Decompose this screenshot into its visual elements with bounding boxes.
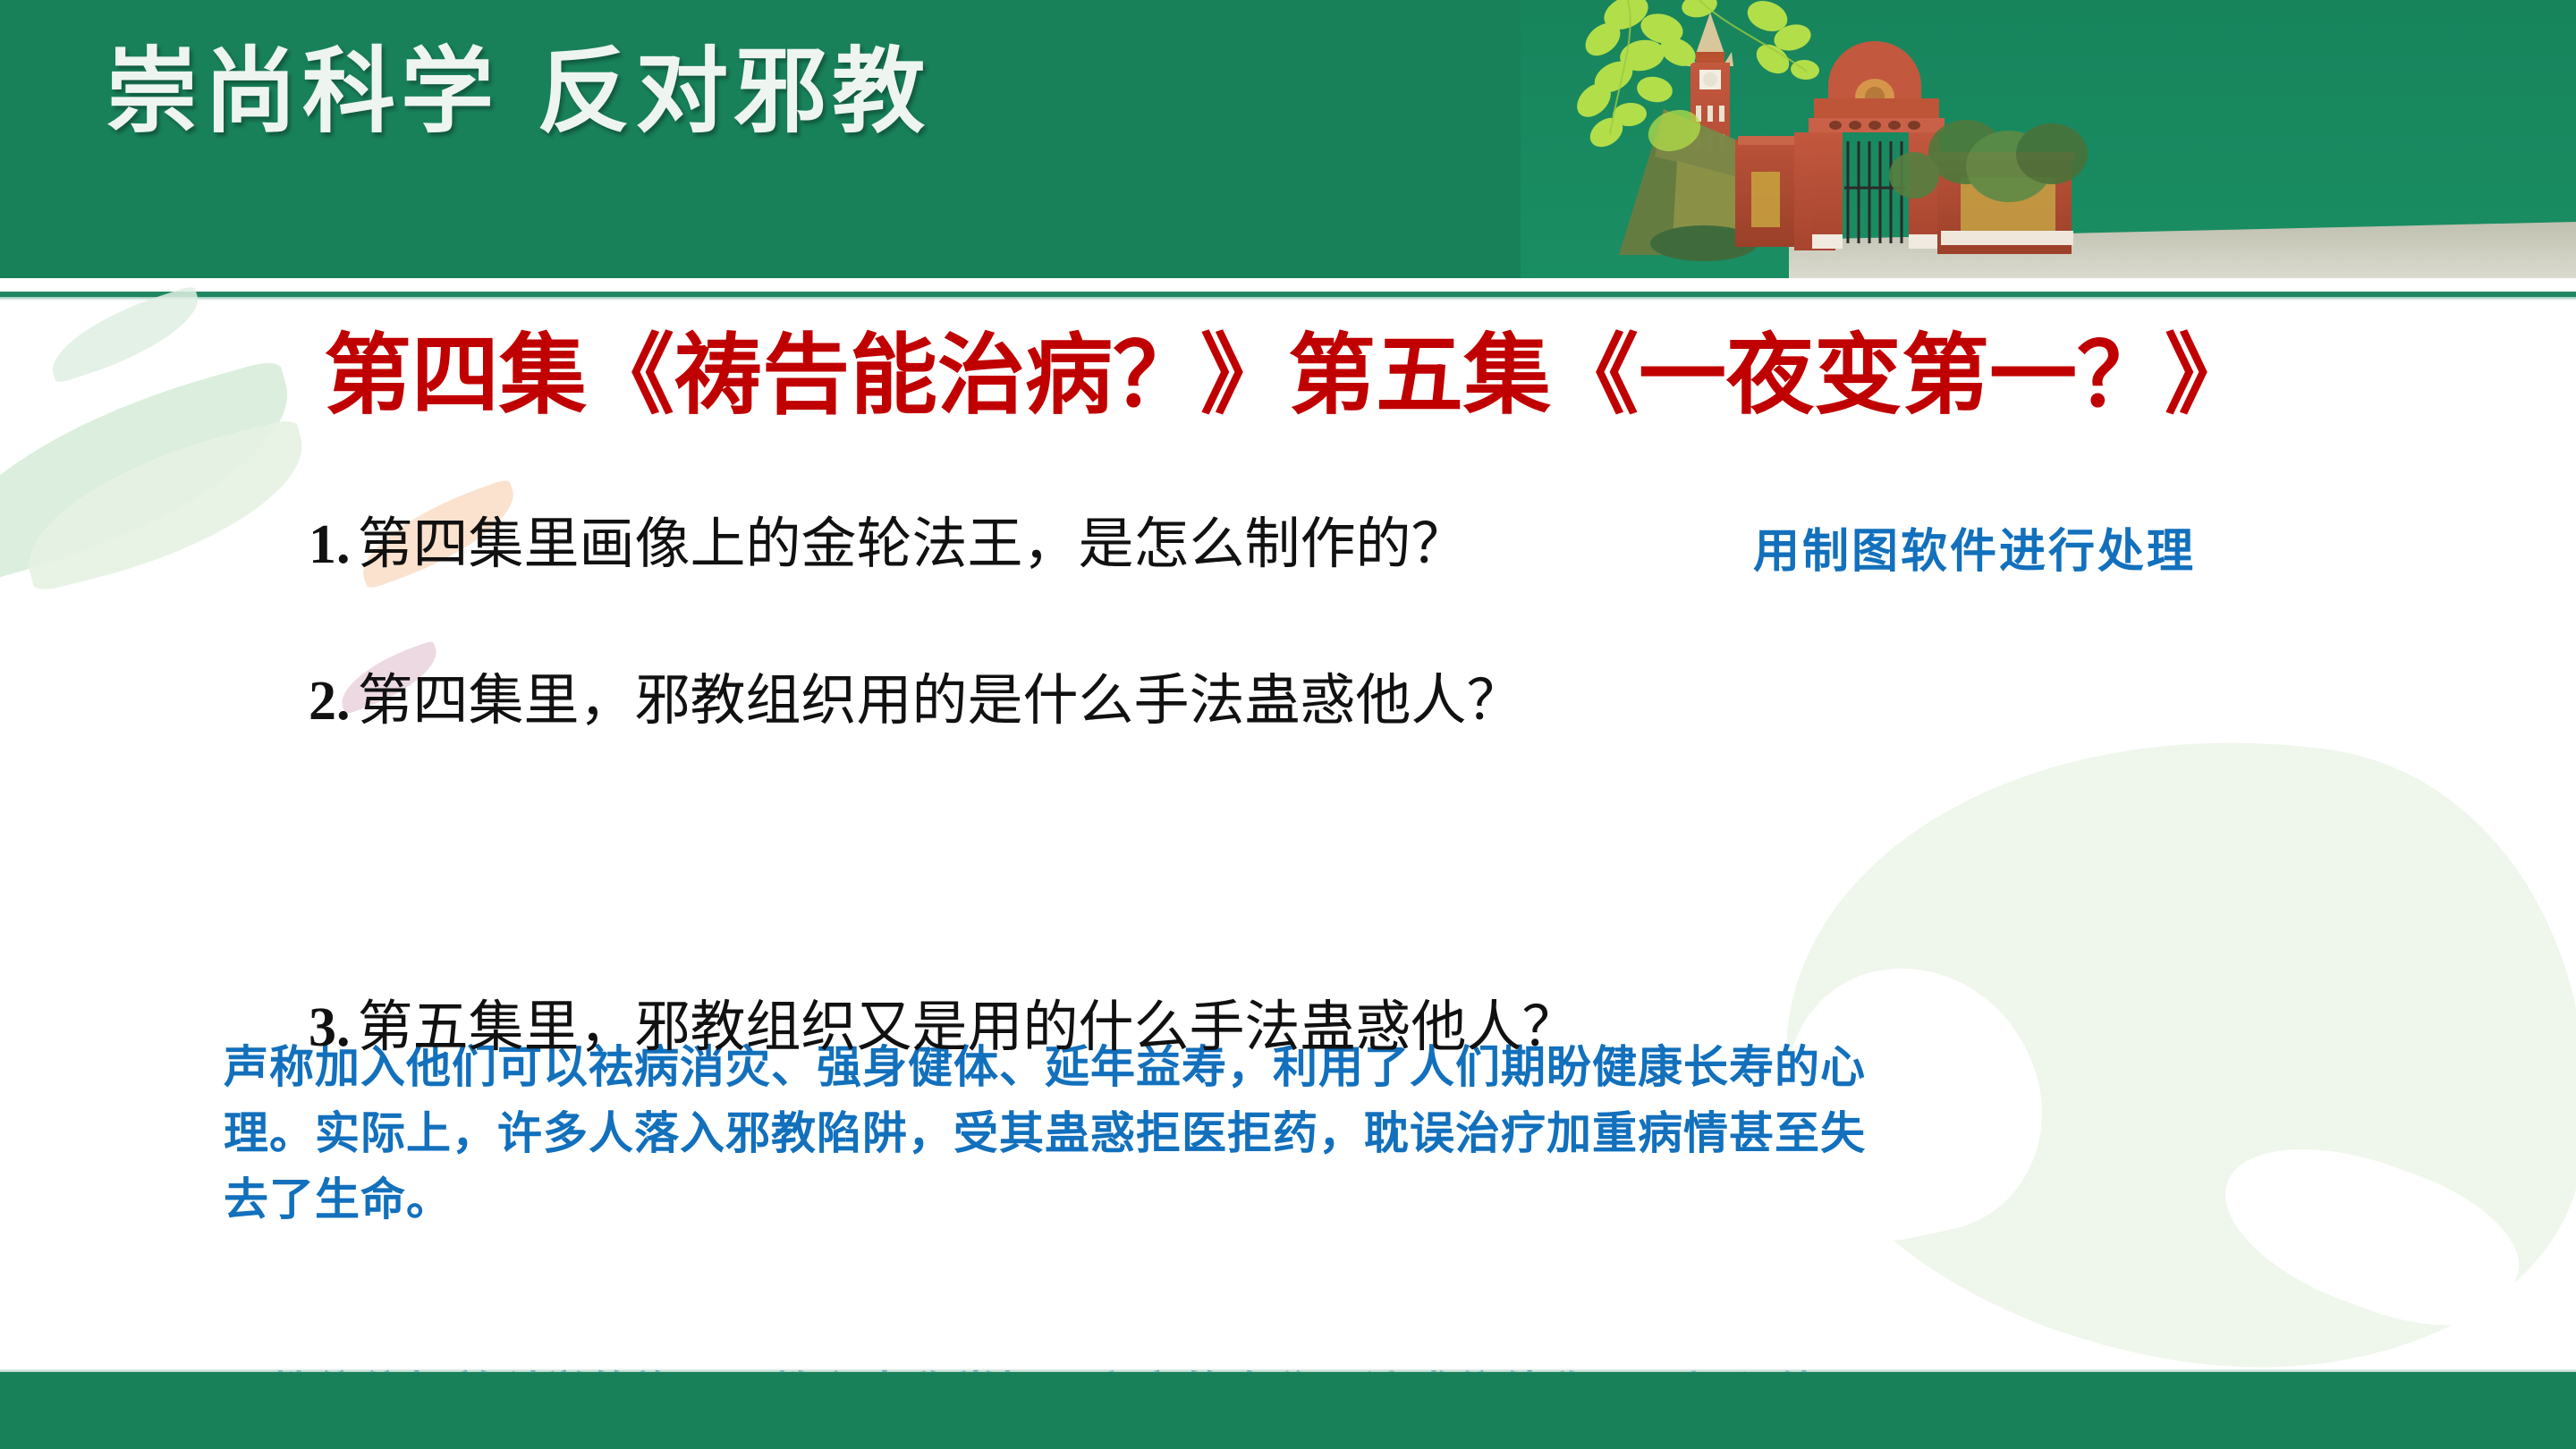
banner-title: 崇尚科学 反对邪教 (106, 36, 930, 147)
answer-inline-1: 用制图软件进行处理 (1753, 524, 2196, 580)
slide-header-banner: 崇尚科学 反对邪教 (0, 0, 2576, 278)
slide-footer-bar (0, 1372, 2576, 1449)
question-item-2: 2. 第四集里，邪教组织用的是什么手法蛊惑他人？ (309, 667, 1522, 735)
campus-gate-photo (1521, 0, 2576, 278)
question-item-3: 3. 第五集里，邪教组织又是用的什么手法蛊惑他人？ (309, 994, 1578, 1062)
answer-2-line-3: 去了生命。 (224, 1166, 2388, 1233)
answer-block-2: 声称加入他们可以祛病消灾、强身健体、延年益寿，利用了人们期盼健康长寿的心 理。实… (224, 1034, 2388, 1233)
question-number-2: 2. (309, 670, 351, 733)
question-number-3: 3. (309, 996, 351, 1060)
question-text-1: 第四集里画像上的金轮法王，是怎么制作的？ (358, 511, 1467, 579)
question-text-2: 第四集里，邪教组织用的是什么手法蛊惑他人？ (358, 667, 1522, 735)
question-text-3: 第五集里，邪教组织又是用的什么手法蛊惑他人？ (358, 994, 1578, 1062)
question-item-1: 1. 第四集里画像上的金轮法王，是怎么制作的？ (309, 511, 1467, 579)
header-divider-white (0, 278, 2576, 292)
answer-2-line-2: 理。实际上，许多人落入邪教陷阱，受其蛊惑拒医拒药，耽误治疗加重病情甚至失 (224, 1100, 2388, 1166)
campus-gate-illustration (1521, 0, 2576, 278)
question-number-1: 1. (309, 513, 351, 577)
presentation-slide: 崇尚科学 反对邪教 第四集《祷告能治病？》第五集《一夜变第一？》 1. 第四集里… (0, 0, 2576, 1449)
page-title: 第四集《祷告能治病？》第五集《一夜变第一？》 (0, 327, 2576, 426)
slide-content: 第四集《祷告能治病？》第五集《一夜变第一？》 1. 第四集里画像上的金轮法王，是… (0, 301, 2576, 1368)
